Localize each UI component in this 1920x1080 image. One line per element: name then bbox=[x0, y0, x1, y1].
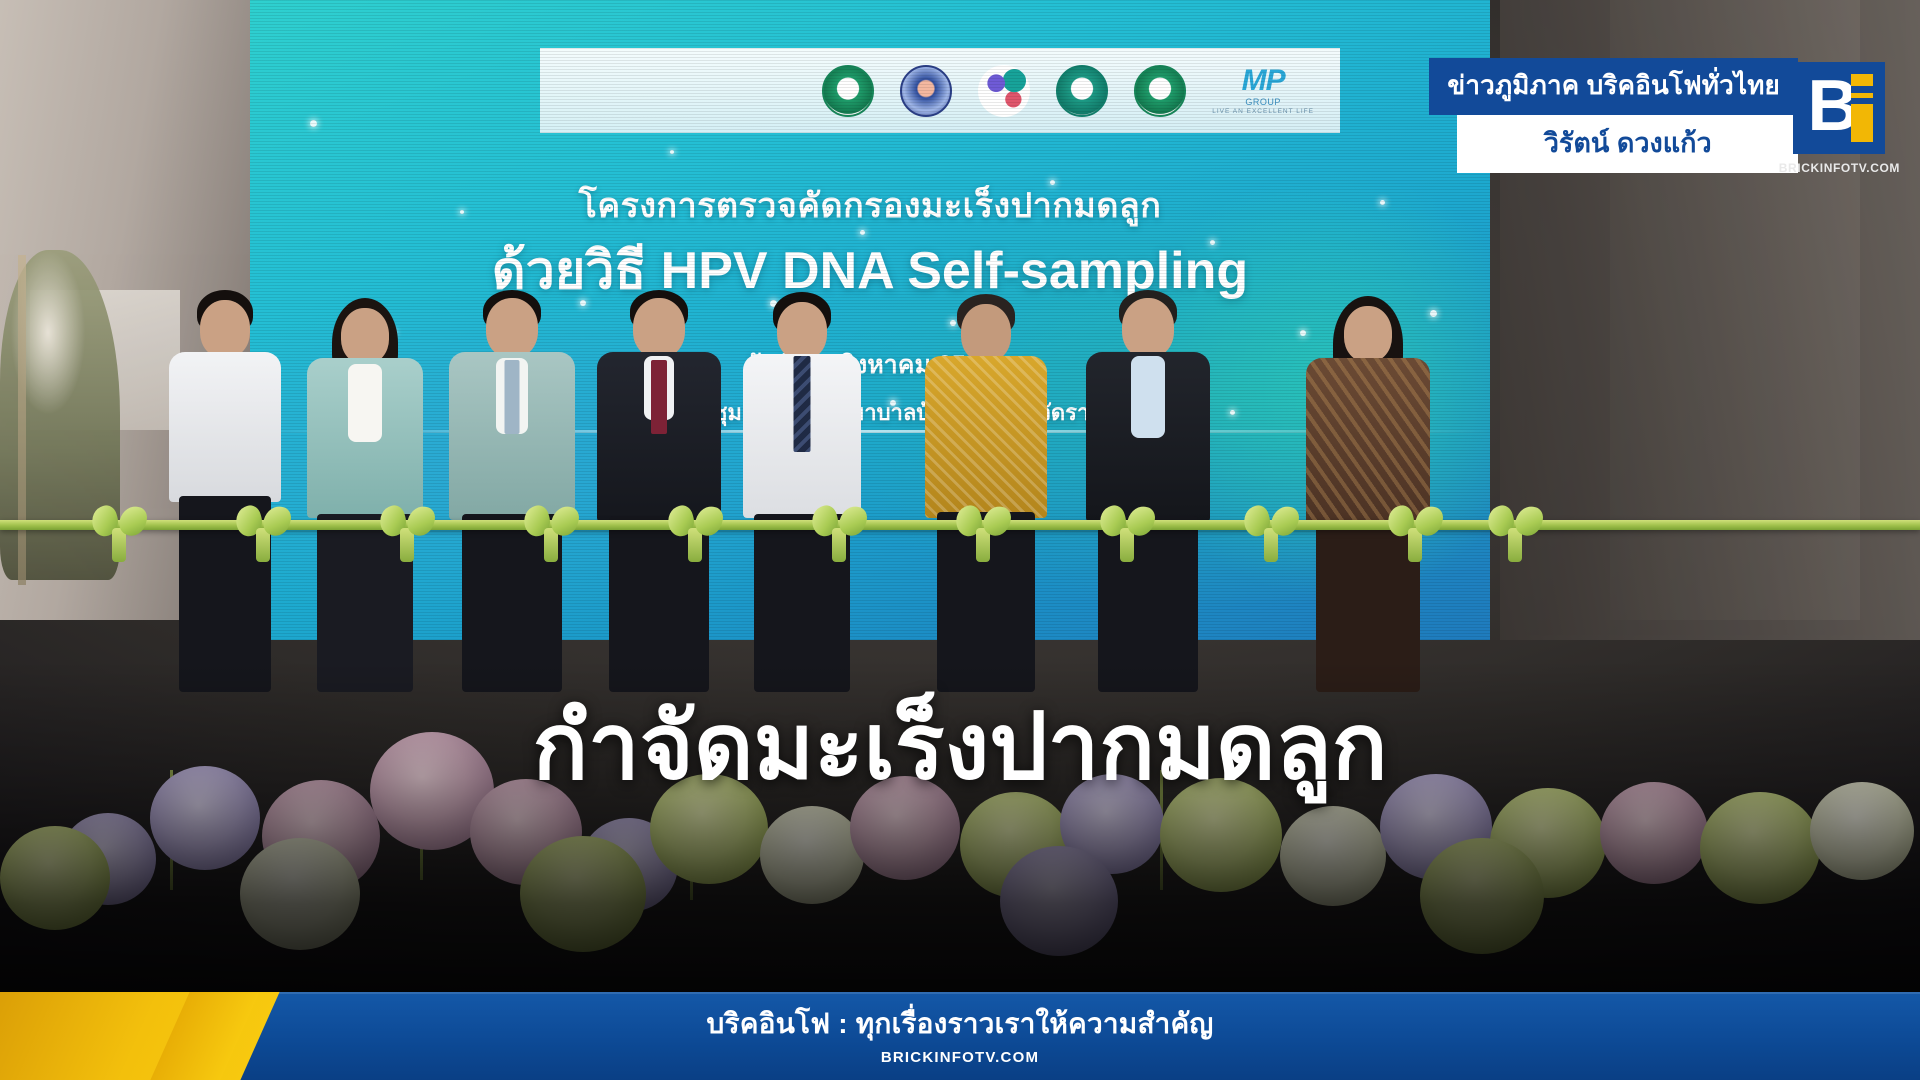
public-health-logo bbox=[1056, 65, 1108, 117]
mp-group-word: GROUP bbox=[1245, 98, 1281, 107]
reporter-name-label: วิรัตน์ ดวงแก้ว bbox=[1457, 115, 1798, 173]
bar-top-line bbox=[0, 992, 1920, 994]
health-service-logo bbox=[1134, 65, 1186, 117]
participant-8 bbox=[1290, 290, 1446, 690]
logo-letter-i-stem bbox=[1851, 98, 1873, 104]
broadcast-frame: MP GROUP LIVE AN EXCELLENT LIFE โครงการต… bbox=[0, 0, 1920, 1080]
hospital-logo bbox=[978, 65, 1030, 117]
ribbon-bow bbox=[668, 500, 722, 558]
mp-group-mark: MP bbox=[1242, 66, 1285, 96]
brickinfo-logo-icon: B bbox=[1793, 62, 1885, 154]
participant-6 bbox=[910, 290, 1062, 690]
channel-brand: B BRICKINFOTV.COM bbox=[1779, 62, 1900, 175]
logo-letter-b: B bbox=[1807, 74, 1851, 142]
participant-3 bbox=[432, 290, 592, 690]
ribbon-bow bbox=[236, 500, 290, 558]
participant-2 bbox=[290, 290, 440, 690]
ceremony-participants bbox=[0, 270, 1920, 690]
ribbon-bow bbox=[956, 500, 1010, 558]
sponsor-logo-band: MP GROUP LIVE AN EXCELLENT LIFE bbox=[540, 48, 1340, 133]
ribbon-bow bbox=[1100, 500, 1154, 558]
provincial-health-office-logo bbox=[900, 65, 952, 117]
ribbon-bow bbox=[812, 500, 866, 558]
logo-letter-i-bar bbox=[1851, 74, 1873, 142]
mp-group-logo: MP GROUP LIVE AN EXCELLENT LIFE bbox=[1212, 66, 1314, 116]
ribbon-bow bbox=[1244, 500, 1298, 558]
channel-slogan: บริคอินโฟ : ทุกเรื่องราวเราให้ความสำคัญ bbox=[0, 1002, 1920, 1046]
ribbon-bow bbox=[1388, 500, 1442, 558]
backdrop-title: โครงการตรวจคัดกรองมะเร็งปากมดลูก bbox=[250, 178, 1490, 232]
participant-4 bbox=[580, 290, 738, 690]
ribbon-bow bbox=[1488, 500, 1542, 558]
ribbon-bow bbox=[524, 500, 578, 558]
news-category-tag: ข่าวภูมิภาค บริคอินโฟทั่วไทย วิรัตน์ ดวง… bbox=[1429, 58, 1798, 173]
logo-letter-i-dot bbox=[1851, 86, 1873, 93]
participant-5 bbox=[726, 290, 878, 690]
ribbon-bow bbox=[380, 500, 434, 558]
news-headline: กำจัดมะเร็งปากมดลูก bbox=[0, 672, 1920, 819]
brand-website-label: BRICKINFOTV.COM bbox=[1779, 161, 1900, 175]
ministry-of-public-health-logo bbox=[822, 65, 874, 117]
lower-third-bar: บริคอินโฟ : ทุกเรื่องราวเราให้ความสำคัญ … bbox=[0, 992, 1920, 1080]
channel-website: BRICKINFOTV.COM bbox=[0, 1049, 1920, 1066]
mp-group-tagline: LIVE AN EXCELLENT LIFE bbox=[1212, 109, 1314, 116]
participant-1 bbox=[150, 290, 300, 690]
participant-7 bbox=[1070, 290, 1226, 690]
lower-third-text: บริคอินโฟ : ทุกเรื่องราวเราให้ความสำคัญ … bbox=[0, 1002, 1920, 1066]
ribbon-bow bbox=[92, 500, 146, 558]
news-category-label: ข่าวภูมิภาค บริคอินโฟทั่วไทย bbox=[1429, 58, 1798, 115]
